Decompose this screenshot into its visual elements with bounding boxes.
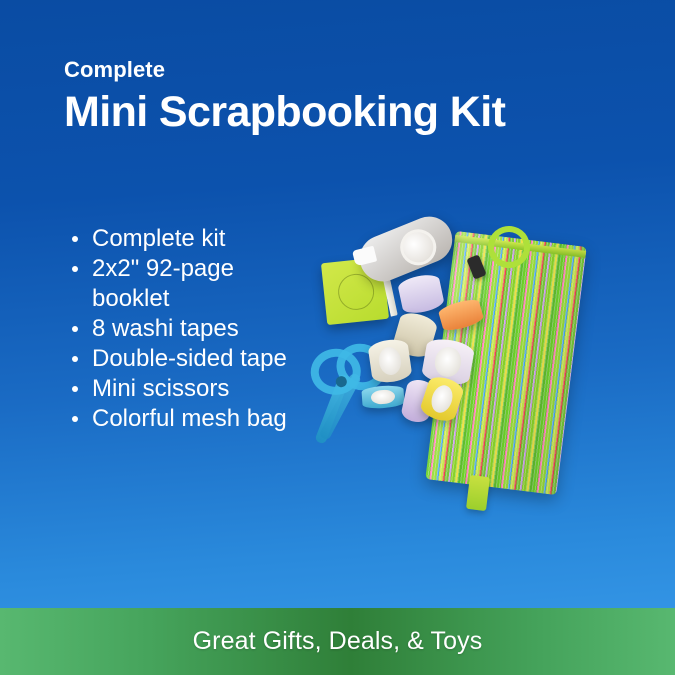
- eyebrow-text: Complete: [64, 58, 624, 82]
- list-item: Complete kit: [68, 224, 308, 254]
- product-image: [300, 218, 612, 523]
- washi-tape-blue: [361, 385, 404, 410]
- tape-core: [428, 382, 456, 415]
- tape-core: [371, 389, 396, 406]
- feature-list: Complete kit 2x2" 92-page booklet 8 wash…: [68, 224, 308, 434]
- list-item: 2x2" 92-page booklet: [68, 254, 308, 314]
- list-item: 8 washi tapes: [68, 314, 308, 344]
- bullet-icon: [72, 386, 78, 392]
- feature-label: Complete kit: [92, 225, 225, 252]
- footer-text: Great Gifts, Deals, & Toys: [193, 627, 483, 656]
- bullet-icon: [72, 326, 78, 332]
- bullet-icon: [72, 266, 78, 272]
- washi-tape-floral: [397, 272, 446, 316]
- bullet-icon: [72, 416, 78, 422]
- feature-label: Double-sided tape: [92, 345, 287, 372]
- feature-label: 8 washi tapes: [92, 315, 239, 342]
- list-item: Mini scissors: [68, 374, 308, 404]
- footer-banner: Great Gifts, Deals, & Toys: [0, 608, 675, 675]
- list-item: Colorful mesh bag: [68, 404, 308, 434]
- feature-label: Mini scissors: [92, 375, 229, 402]
- tape-core: [377, 345, 403, 376]
- page-title: Mini Scrapbooking Kit: [64, 88, 624, 136]
- bullet-icon: [72, 356, 78, 362]
- promo-poster: Complete Mini Scrapbooking Kit Complete …: [0, 0, 675, 675]
- tape-dispenser: [353, 210, 459, 289]
- bag-bottom-tab: [466, 475, 490, 511]
- washi-tape-botanical: [367, 337, 412, 384]
- tape-core: [432, 345, 464, 379]
- list-item: Double-sided tape: [68, 344, 308, 374]
- bullet-icon: [72, 236, 78, 242]
- feature-label: Colorful mesh bag: [92, 405, 287, 432]
- feature-label: 2x2" 92-page booklet: [92, 255, 234, 312]
- headline-block: Complete Mini Scrapbooking Kit: [64, 58, 624, 136]
